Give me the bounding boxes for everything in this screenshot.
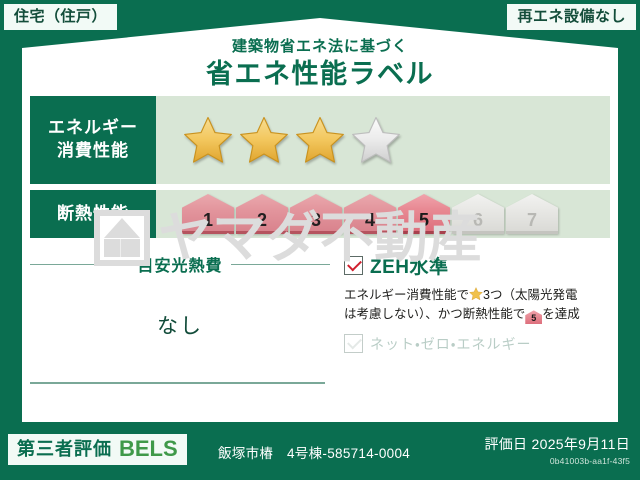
net-zero-energy-checkbox[interactable] xyxy=(344,334,363,353)
zeh-checkbox[interactable] xyxy=(344,256,363,275)
insulation-level-5: 5 xyxy=(398,194,450,234)
insulation-level-number: 7 xyxy=(527,210,537,231)
zeh-description: エネルギー消費性能で3つ（太陽光発電は考慮しない）、かつ断熱性能で5を達成 xyxy=(344,286,610,325)
insulation-level-number: 3 xyxy=(311,210,321,231)
insulation-level-4: 4 xyxy=(344,194,396,234)
zeh-desc-stars: 3つ（太陽光発電 xyxy=(483,288,577,302)
bels-jp-text: 第三者評価 xyxy=(17,440,112,458)
document-id: 0b41003b-aa1f-43f5 xyxy=(484,456,630,466)
lower-section: 目安光熱費 なし ZEH水準 エネルギー消費性能で3つ（太陽光発電は考慮しない）… xyxy=(30,252,610,402)
bels-badge: 第三者評価 BELS xyxy=(8,434,187,465)
heading-rule-right xyxy=(231,264,331,265)
heading-rule-left xyxy=(30,264,130,265)
utility-cost-heading: 目安光熱費 xyxy=(30,252,330,276)
insulation-level-number: 6 xyxy=(473,210,483,231)
zeh-sub-row: ネット・ゼロ・エネルギー xyxy=(344,334,610,354)
zeh-desc-part2: は考慮しない）、かつ断熱性能で xyxy=(344,307,525,321)
insulation-level-6: 6 xyxy=(452,194,504,234)
insulation-level-2: 2 xyxy=(236,194,288,234)
zeh-title: ZEH水準 xyxy=(370,252,449,279)
label-content: エネルギー 消費性能 断熱性能 1234567 目安光熱費 なし xyxy=(30,96,610,416)
net-zero-energy-label: ネット・ゼロ・エネルギー xyxy=(370,334,532,354)
row-energy-label: エネルギー 消費性能 xyxy=(30,96,156,184)
insulation-level-number: 1 xyxy=(203,210,213,231)
row-insulation-label: 断熱性能 xyxy=(30,190,156,238)
utility-cost-bottom-rule xyxy=(30,382,325,384)
energy-performance-label: 住宅（住戸） 再エネ設備なし 建築物省エネ法に基づく 省エネ性能ラベル エネルギ… xyxy=(0,0,640,480)
row-energy-label-line1: エネルギー xyxy=(48,117,138,140)
insulation-level-1: 1 xyxy=(182,194,234,234)
evaluation-date: 評価日 2025年9月11日 xyxy=(484,434,630,454)
utility-cost-panel: 目安光熱費 なし xyxy=(30,252,330,402)
insulation-level-number: 4 xyxy=(365,210,375,231)
badge-building-type: 住宅（住戸） xyxy=(4,4,117,30)
star-rating xyxy=(182,115,402,165)
insulation-level-number: 5 xyxy=(419,210,429,231)
insulation-level-7: 7 xyxy=(506,194,558,234)
zeh-title-row: ZEH水準 xyxy=(344,252,610,279)
row-energy-performance: エネルギー 消費性能 xyxy=(30,96,610,184)
badge-renewable-energy: 再エネ設備なし xyxy=(507,4,636,30)
star-empty-icon xyxy=(350,115,402,165)
zeh-panel: ZEH水準 エネルギー消費性能で3つ（太陽光発電は考慮しない）、かつ断熱性能で5… xyxy=(330,252,610,402)
insulation-level-scale: 1234567 xyxy=(182,194,558,234)
utility-cost-heading-text: 目安光熱費 xyxy=(138,252,223,276)
star-filled-icon xyxy=(182,115,234,165)
row-insulation-performance: 断熱性能 1234567 xyxy=(30,190,610,238)
row-energy-label-line2: 消費性能 xyxy=(57,140,129,163)
inline-star-icon xyxy=(469,287,483,301)
row-insulation-value: 1234567 xyxy=(156,190,610,238)
row-energy-value xyxy=(156,96,610,184)
insulation-level-3: 3 xyxy=(290,194,342,234)
inline-house-icon: 5 xyxy=(525,310,542,324)
footer-date-block: 評価日 2025年9月11日 0b41003b-aa1f-43f5 xyxy=(484,434,630,466)
star-filled-icon xyxy=(294,115,346,165)
star-filled-icon xyxy=(238,115,290,165)
zeh-desc-part3: を達成 xyxy=(542,307,580,321)
insulation-level-number: 2 xyxy=(257,210,267,231)
utility-cost-value: なし xyxy=(30,310,330,340)
bels-en-text: BELS xyxy=(119,438,178,460)
label-footer: 第三者評価 BELS 飯塚市椿 4号棟-585714-0004 評価日 2025… xyxy=(0,426,640,480)
footer-property-info: 飯塚市椿 4号棟-585714-0004 xyxy=(218,442,410,462)
zeh-desc-part1: エネルギー消費性能で xyxy=(344,288,469,302)
